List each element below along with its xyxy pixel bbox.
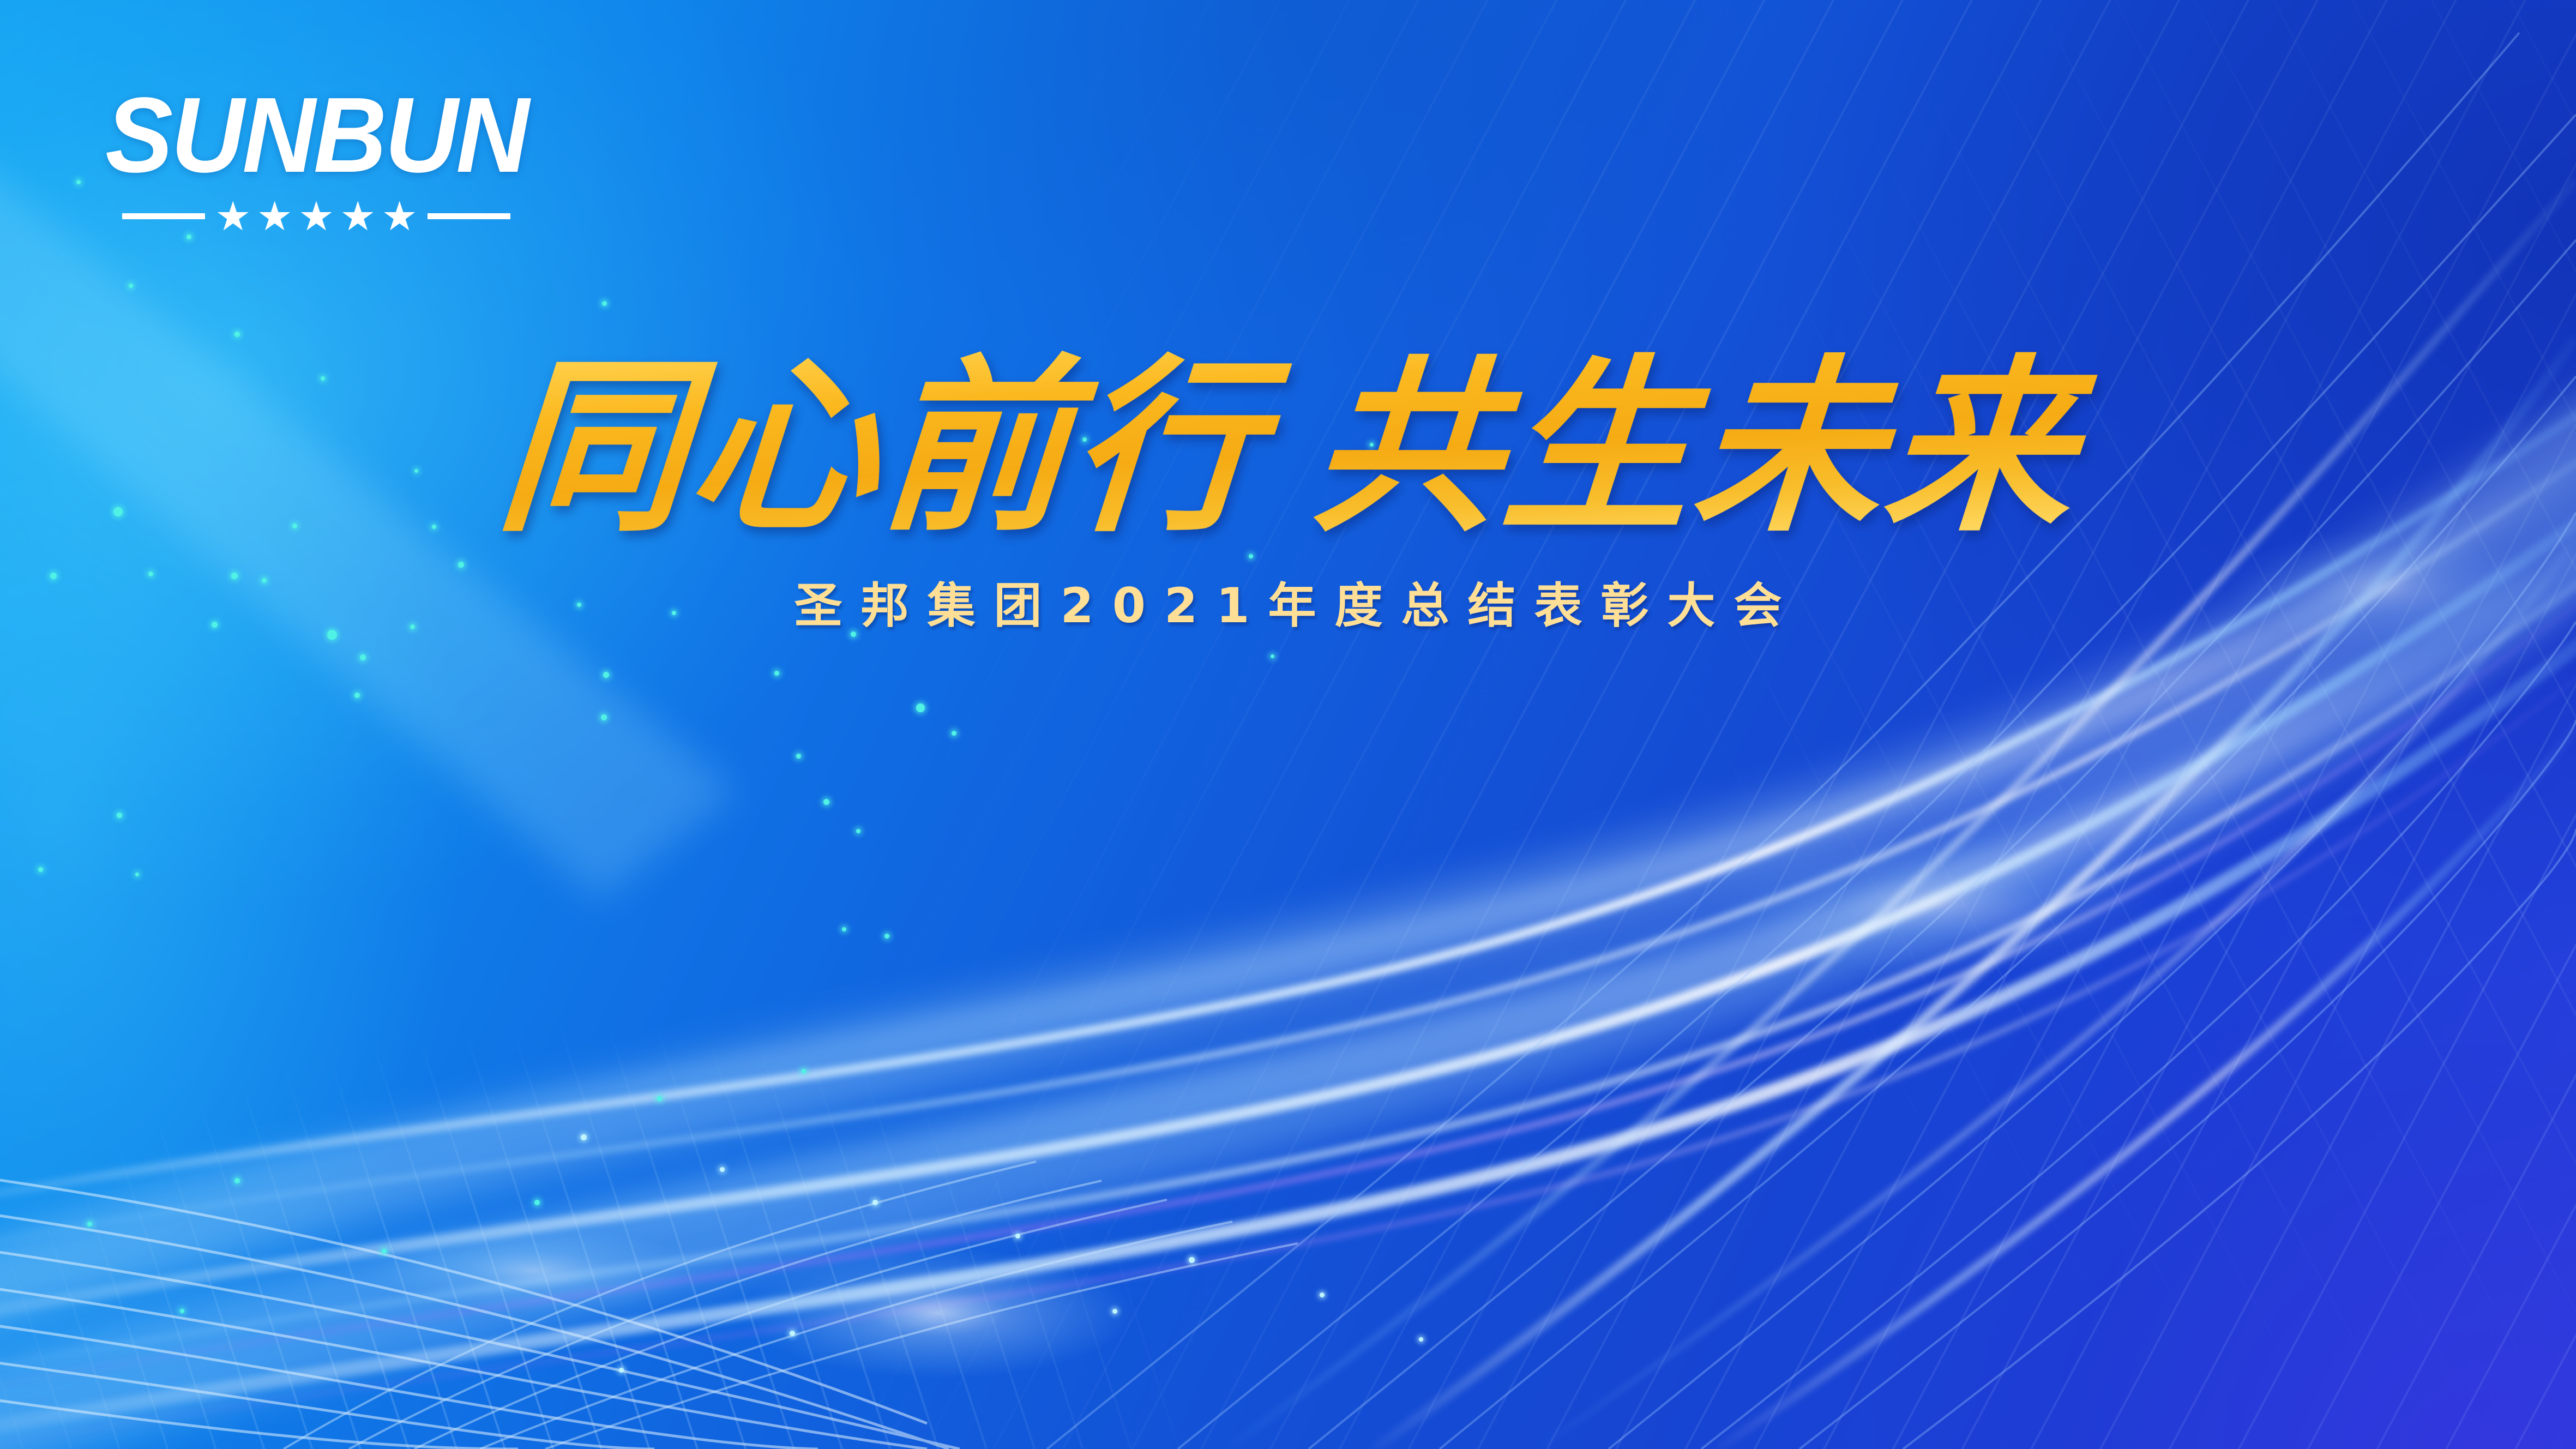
headline-block: 同心前行共生未来 圣邦集团2021年度总结表彰大会 (0, 349, 2576, 630)
logo-stars: ★ ★ ★ ★ ★ (215, 201, 418, 232)
star-icon: ★ (256, 201, 292, 232)
logo-rule-right (428, 213, 510, 219)
logo-star-rule: ★ ★ ★ ★ ★ (87, 201, 545, 232)
conference-banner: SUNBUN ★ ★ ★ ★ ★ 同心前行共生未来 圣邦集团2021年度总结表彰… (0, 0, 2576, 1449)
event-subtitle: 圣邦集团2021年度总结表彰大会 (0, 582, 2576, 630)
logo-rule-left (122, 213, 205, 219)
headline-phrase-left: 同心前行 (492, 337, 1271, 557)
headline-phrase-right: 共生未来 (1305, 337, 2084, 557)
star-icon: ★ (215, 201, 251, 232)
star-icon: ★ (298, 201, 334, 232)
star-icon: ★ (340, 201, 376, 232)
logo-wordmark: SUNBUN (99, 82, 534, 189)
sunbun-logo[interactable]: SUNBUN ★ ★ ★ ★ ★ (87, 82, 545, 232)
star-icon: ★ (382, 201, 418, 232)
page-title: 同心前行共生未来 (0, 349, 2576, 546)
